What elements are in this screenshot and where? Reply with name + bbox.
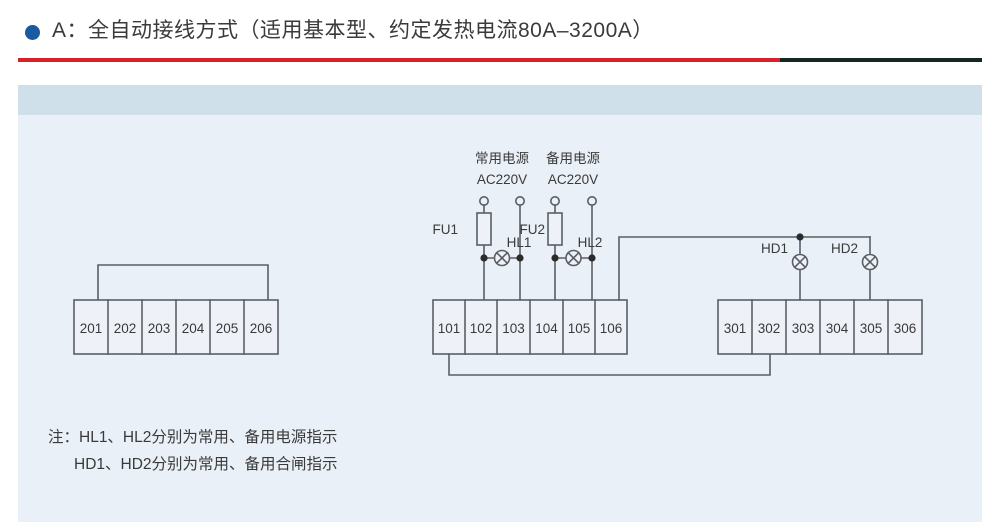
terminal-label-206: 206 xyxy=(250,321,273,336)
divider-segment-red xyxy=(18,58,780,62)
power-source-label-1: 常用电源 xyxy=(475,151,529,166)
note-line-1: 注：HL1、HL2分别为常用、备用电源指示 xyxy=(48,425,337,447)
terminal-label-101: 101 xyxy=(438,321,461,336)
return-wire-101-302 xyxy=(449,354,770,375)
fuse-fu2 xyxy=(548,213,562,245)
header-divider xyxy=(18,58,982,62)
power-source-label-2: 备用电源 xyxy=(546,150,600,166)
page-title: A：全自动接线方式（适用基本型、约定发热电流80A–3200A） xyxy=(52,14,654,44)
terminal-label-305: 305 xyxy=(860,321,883,336)
divider-segment-dark xyxy=(780,58,982,62)
terminal-label-204: 204 xyxy=(182,321,205,336)
terminal-label-104: 104 xyxy=(535,321,558,336)
fuse-label-fu1: FU1 xyxy=(432,222,458,237)
lamp-label-hl1: HL1 xyxy=(507,235,532,250)
terminal-label-203: 203 xyxy=(148,321,171,336)
terminal-label-105: 105 xyxy=(568,321,591,336)
lamp-hl1-branch xyxy=(480,251,523,266)
terminal-block-200 xyxy=(74,300,278,354)
power-source-voltage-1: AC220V xyxy=(477,172,527,187)
terminal-label-102: 102 xyxy=(470,321,493,336)
terminal-label-103: 103 xyxy=(502,321,525,336)
terminal-label-302: 302 xyxy=(758,321,781,336)
lamp-hl2-branch xyxy=(551,251,595,266)
page-header: A：全自动接线方式（适用基本型、约定发热电流80A–3200A） xyxy=(0,0,1000,56)
terminal-label-202: 202 xyxy=(114,321,137,336)
note-line-2: HD1、HD2分别为常用、备用合闸指示 xyxy=(74,452,338,474)
lamp-label-hl2: HL2 xyxy=(578,235,603,250)
lamp-label-hd2: HD2 xyxy=(831,241,858,256)
terminal-label-306: 306 xyxy=(894,321,917,336)
terminal-block-100 xyxy=(433,300,627,354)
terminal-label-106: 106 xyxy=(600,321,623,336)
lamp-hd2 xyxy=(863,255,878,301)
terminal-label-303: 303 xyxy=(792,321,815,336)
terminal-label-201: 201 xyxy=(80,321,103,336)
lamp-label-hd1: HD1 xyxy=(761,241,788,256)
diagram-panel: 常用电源 AC220V 备用电源 AC220V FU1 FU2 HL1 HL2 … xyxy=(18,85,982,522)
bullet-icon xyxy=(25,25,40,40)
power-source-voltage-2: AC220V xyxy=(548,172,598,187)
terminal-label-304: 304 xyxy=(826,321,849,336)
bridge-wire-201-206 xyxy=(98,265,268,300)
terminal-label-301: 301 xyxy=(724,321,747,336)
terminal-label-205: 205 xyxy=(216,321,239,336)
terminal-block-300 xyxy=(718,300,922,354)
source-terminal-points xyxy=(480,197,596,205)
fuse-fu1 xyxy=(477,213,491,245)
lamp-hd1 xyxy=(793,255,808,301)
